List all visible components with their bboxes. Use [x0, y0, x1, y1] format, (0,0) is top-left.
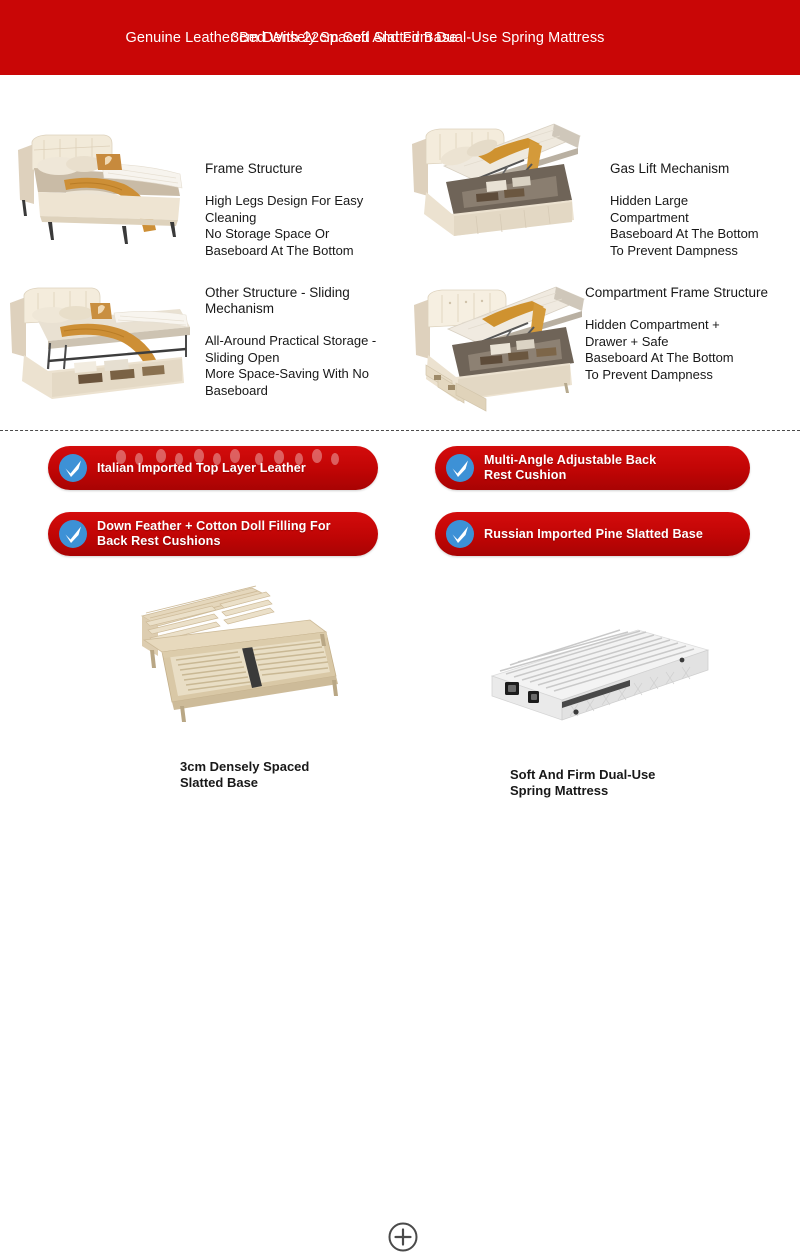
badge-label: Italian Imported Top Layer Leather	[97, 461, 306, 476]
slatted-base-photo	[120, 580, 420, 755]
badge-italian-leather[interactable]: Italian Imported Top Layer Leather	[48, 446, 378, 490]
combo-item-spring-mattress: Soft And Firm Dual-Use Spring Mattress	[470, 620, 770, 799]
bed-high-legs-photo	[4, 104, 204, 254]
check-circle-icon	[445, 453, 475, 483]
section-divider	[0, 430, 800, 432]
badge-down-feather-filling[interactable]: Down Feather + Cotton Doll Filling For B…	[48, 512, 378, 556]
badge-label: Down Feather + Cotton Doll Filling For B…	[97, 519, 331, 549]
feature-body: Hidden Large Compartment Baseboard At Th…	[610, 193, 800, 259]
bed-compartment-drawer-photo	[404, 269, 604, 419]
feature-card-sliding-mechanism: Other Structure - Sliding Mechanism All-…	[0, 265, 400, 430]
feature-heading: Compartment Frame Structure	[585, 285, 800, 301]
feature-card-compartment-frame: Compartment Frame Structure Hidden Compa…	[400, 265, 800, 430]
feature-body: High Legs Design For Easy Cleaning No St…	[205, 193, 401, 259]
feature-text-compartment-frame: Compartment Frame Structure Hidden Compa…	[585, 285, 800, 383]
check-circle-icon	[58, 453, 88, 483]
combo-caption: Soft And Firm Dual-Use Spring Mattress	[510, 767, 770, 799]
spring-mattress-photo	[470, 620, 770, 745]
feature-text-frame-structure: Frame Structure High Legs Design For Eas…	[205, 161, 401, 259]
check-circle-icon	[445, 519, 475, 549]
combo-section: 3cm Densely Spaced Slatted Base	[0, 580, 800, 800]
header-title-secondary: 3cm Densely Spaced Slatted Base	[231, 30, 457, 46]
feature-body: All-Around Practical Storage - Sliding O…	[205, 333, 401, 399]
feature-heading: Frame Structure	[205, 161, 401, 177]
feature-badge-list: Italian Imported Top Layer Leather Multi…	[0, 446, 800, 576]
feature-card-gas-lift: Gas Lift Mechanism Hidden Large Compartm…	[400, 100, 800, 265]
feature-heading: Gas Lift Mechanism	[610, 161, 800, 177]
header-title-wrap: Genuine Leather Bed With 22cm Soft And F…	[0, 0, 800, 75]
badge-label: Multi-Angle Adjustable Back Rest Cushion	[484, 453, 656, 483]
badge-label: Russian Imported Pine Slatted Base	[484, 527, 703, 542]
feature-heading: Other Structure - Sliding Mechanism	[205, 285, 401, 317]
bed-gas-lift-photo	[404, 104, 604, 254]
feature-grid: Frame Structure High Legs Design For Eas…	[0, 75, 800, 430]
plus-circle-icon	[387, 1221, 419, 1253]
combo-item-slatted-base: 3cm Densely Spaced Slatted Base	[120, 580, 420, 791]
feature-text-gas-lift: Gas Lift Mechanism Hidden Large Compartm…	[610, 161, 800, 259]
bed-sliding-storage-photo	[4, 269, 204, 419]
badge-adjustable-backrest[interactable]: Multi-Angle Adjustable Back Rest Cushion	[435, 446, 750, 490]
check-circle-icon	[58, 519, 88, 549]
feature-card-frame-structure: Frame Structure High Legs Design For Eas…	[0, 100, 400, 265]
combo-caption: 3cm Densely Spaced Slatted Base	[180, 759, 420, 791]
feature-text-sliding-mechanism: Other Structure - Sliding Mechanism All-…	[205, 285, 401, 399]
badge-russian-pine-base[interactable]: Russian Imported Pine Slatted Base	[435, 512, 750, 556]
header-banner: Genuine Leather Bed With 22cm Soft And F…	[0, 0, 800, 75]
feature-body: Hidden Compartment + Drawer + Safe Baseb…	[585, 317, 800, 383]
